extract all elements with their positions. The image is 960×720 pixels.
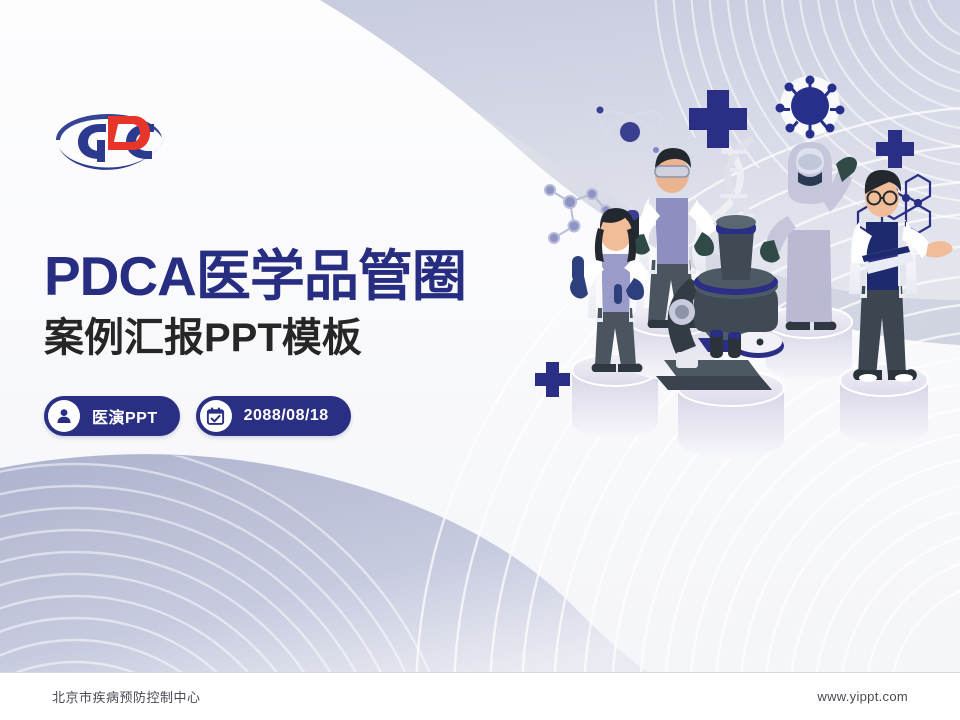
footer: 北京市疾病预防控制中心 www.yippt.com	[0, 673, 960, 720]
author-label: 医演PPT	[92, 404, 158, 428]
meta-pill-group: 医演PPT 2088/08/18	[44, 396, 351, 436]
page-title: PDCA医学品管圈	[44, 243, 564, 309]
footer-organization: 北京市疾病预防控制中心	[52, 687, 201, 706]
cdc-logo	[50, 100, 170, 178]
page-subtitle: 案例汇报PPT模板	[44, 313, 564, 363]
footer-website[interactable]: www.yippt.com	[817, 689, 908, 704]
medical-cross-large	[689, 90, 747, 148]
medical-cross-bottom-left	[535, 362, 570, 397]
date-label: 2088/08/18	[244, 407, 329, 425]
calendar-icon	[200, 400, 232, 432]
title-block: PDCA医学品管圈 案例汇报PPT模板	[44, 243, 564, 363]
date-pill[interactable]: 2088/08/18	[196, 396, 351, 436]
author-pill[interactable]: 医演PPT	[44, 396, 180, 436]
presentation-slide: PDCA医学品管圈 案例汇报PPT模板 医演PPT	[0, 0, 960, 720]
user-icon	[48, 400, 80, 432]
medical-research-team-illustration	[510, 70, 960, 490]
medical-cross-small	[876, 130, 914, 168]
male-doctor-with-clipboard	[849, 170, 953, 382]
